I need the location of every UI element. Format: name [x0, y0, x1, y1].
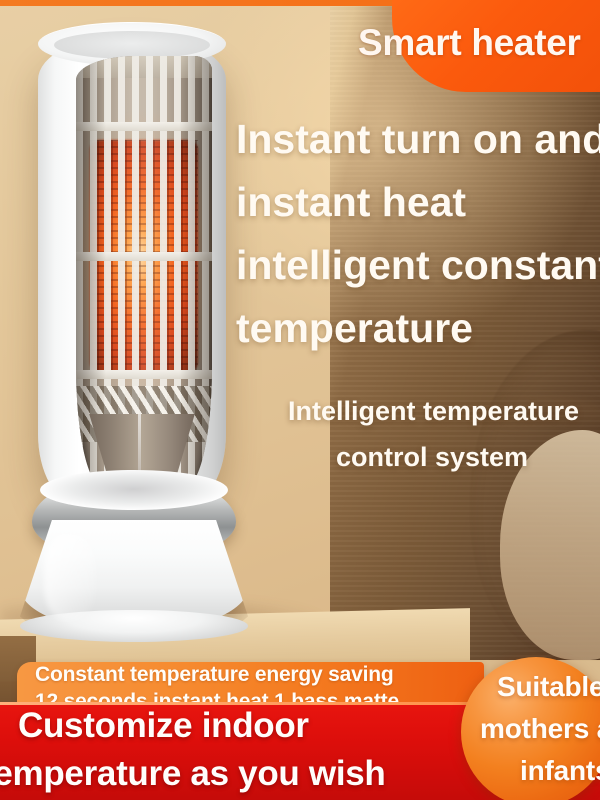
headline-line-2: instant heat — [236, 171, 600, 234]
heater-ring-top-face — [40, 470, 228, 510]
badge-line-1: Suitable for — [497, 671, 600, 703]
product-advertisement-poster: Smart heater Instant turn on and instant… — [0, 0, 600, 800]
subhead-line-2: control system — [336, 434, 600, 480]
subhead-block: Intelligent temperature control system — [288, 388, 600, 480]
badge-line-3: infants — [520, 755, 600, 787]
headline-line-3: intelligent constant — [236, 234, 600, 297]
heater-top-cap-inner — [54, 31, 210, 59]
subhead-line-1: Intelligent temperature — [288, 388, 600, 434]
heater-base-highlight — [44, 534, 96, 620]
banner-title-text: Smart heater — [358, 22, 600, 64]
badge-line-2: mothers and — [480, 713, 600, 745]
headline-line-1: Instant turn on and — [236, 108, 600, 171]
tower-heater-product — [26, 34, 238, 634]
caption-line-1: Constant temperature energy saving — [35, 663, 555, 687]
headline-line-4: temperature — [236, 297, 600, 360]
headline-block: Instant turn on and instant heat intelli… — [236, 108, 600, 360]
